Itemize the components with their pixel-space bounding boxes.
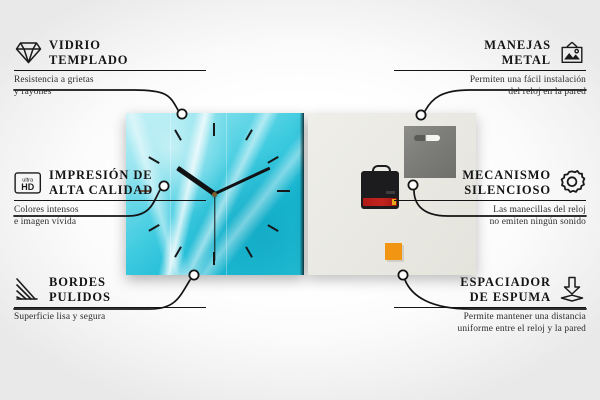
feature-description: Las manecillas del reloj no emiten ningú… (394, 204, 586, 229)
feature-espaciador-espuma: ESPACIADOR DE ESPUMA Permite mantener un… (394, 275, 586, 336)
feature-title: MECANISMO SILENCIOSO (462, 168, 551, 198)
feature-divider (14, 200, 206, 201)
feature-divider (14, 307, 206, 308)
clock-tick (267, 156, 278, 164)
feature-header: ESPACIADOR DE ESPUMA (394, 275, 586, 305)
gear-icon (558, 169, 586, 197)
clock-tick (245, 246, 253, 257)
clock-tick (267, 224, 278, 232)
feature-bordes-pulidos: BORDES PULIDOS Superficie lisa y segura (14, 275, 206, 323)
clock-minute-hand (214, 167, 271, 196)
clock-tick (174, 129, 182, 140)
foam-spacer (385, 243, 402, 260)
polished-edges-icon (14, 276, 42, 304)
feature-title: BORDES PULIDOS (49, 275, 111, 305)
feature-mecanismo-silencioso: MECANISMO SILENCIOSO Las manecillas del … (394, 168, 586, 229)
ultra-hd-icon: ultra HD (14, 169, 42, 197)
feature-header: ultra HD IMPRESIÓN DE ALTA CALIDAD (14, 168, 206, 198)
clock-edge-shadow (300, 113, 304, 275)
hanger-slot (414, 135, 440, 141)
clock-tick (174, 246, 182, 257)
feature-divider (394, 307, 586, 308)
clock-tick (213, 123, 215, 136)
clock-tick (277, 190, 290, 192)
feature-manejas-metal: MANEJAS METAL Permiten una fácil instala… (394, 38, 586, 99)
feature-description: Resistencia a grietas y rayones (14, 74, 206, 99)
feature-divider (394, 200, 586, 201)
clock-second-hand (214, 194, 215, 261)
infographic-canvas: VIDRIO TEMPLADO Resistencia a grietas y … (0, 0, 600, 400)
glass-seam (226, 113, 227, 275)
picture-frame-hanger-icon (558, 39, 586, 67)
svg-text:HD: HD (21, 182, 34, 192)
feature-title: IMPRESIÓN DE ALTA CALIDAD (49, 168, 153, 198)
feature-impresion-alta-calidad: ultra HD IMPRESIÓN DE ALTA CALIDAD Color… (14, 168, 206, 229)
feature-header: MECANISMO SILENCIOSO (394, 168, 586, 198)
battery (363, 198, 397, 206)
clock-tick (148, 156, 159, 164)
feature-description: Colores intensos e imagen vívida (14, 204, 206, 229)
clock-tick (245, 129, 253, 140)
feature-divider (14, 70, 206, 71)
diamond-icon (14, 39, 42, 67)
feature-header: MANEJAS METAL (394, 38, 586, 68)
feature-title: MANEJAS METAL (484, 38, 551, 68)
feature-header: BORDES PULIDOS (14, 275, 206, 305)
feature-title: ESPACIADOR DE ESPUMA (460, 275, 551, 305)
mechanism-hook (372, 165, 391, 176)
clock-center-pin (212, 192, 217, 197)
feature-divider (394, 70, 586, 71)
feature-title: VIDRIO TEMPLADO (49, 38, 128, 68)
arrow-down-to-pad-icon (558, 276, 586, 304)
feature-header: VIDRIO TEMPLADO (14, 38, 206, 68)
feature-description: Superficie lisa y segura (14, 311, 206, 324)
feature-vidrio-templado: VIDRIO TEMPLADO Resistencia a grietas y … (14, 38, 206, 99)
feature-description: Permiten una fácil instalación del reloj… (394, 74, 586, 99)
feature-description: Permite mantener una distancia uniforme … (394, 311, 586, 336)
